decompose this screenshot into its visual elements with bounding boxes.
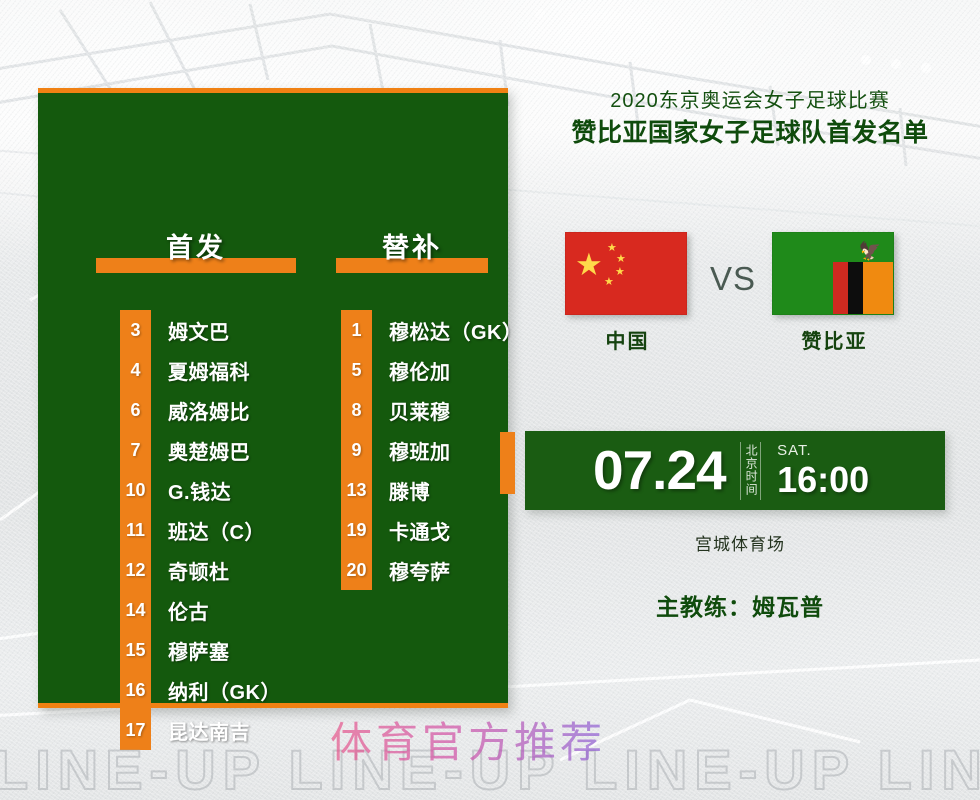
timezone-label: 北京时间 — [740, 442, 761, 500]
player-row: 6威洛姆比 — [120, 390, 281, 430]
starters-header-label: 首发 — [96, 226, 296, 265]
flag-stripe-black — [848, 262, 863, 314]
substitutes-rows: 1穆松达（GK）5穆伦加8贝莱穆9穆班加13滕博19卡通戈20穆夸萨 — [341, 310, 523, 590]
date-panel-accent-bar — [500, 432, 515, 494]
away-team-block: 🦅 赞比亚 — [772, 232, 897, 354]
player-row: 1穆松达（GK） — [341, 310, 523, 350]
player-number: 8 — [341, 400, 372, 421]
player-number: 11 — [120, 520, 151, 541]
player-row: 3姆文巴 — [120, 310, 281, 350]
player-name: 姆文巴 — [168, 316, 230, 345]
flag-eagle-icon: 🦅 — [859, 242, 881, 260]
player-row: 11班达（C） — [120, 510, 281, 550]
date-time-panel: 07.24 北京时间 SAT. 16:00 — [525, 431, 945, 510]
player-number: 13 — [341, 480, 372, 501]
substitutes-column-header: 替补 — [336, 221, 488, 273]
player-number: 19 — [341, 520, 372, 541]
versus-label: VS — [693, 260, 773, 298]
flag-star-4: ★ — [604, 277, 614, 288]
player-name: 夏姆福科 — [168, 356, 250, 385]
player-number: 7 — [120, 440, 151, 461]
lineup-panel: 首发 替补 3姆文巴4夏姆福科6威洛姆比7奥楚姆巴10G.钱达11班达（C）12… — [38, 88, 508, 708]
flag-stripe-orange — [863, 262, 878, 314]
player-number: 4 — [120, 360, 151, 381]
flag-star-2: ★ — [616, 254, 626, 265]
player-row: 19卡通戈 — [341, 510, 523, 550]
flag-star-3: ★ — [615, 267, 625, 278]
player-name: 穆松达（GK） — [389, 316, 523, 345]
player-name: G.钱达 — [168, 476, 231, 505]
player-name: 穆班加 — [389, 436, 451, 465]
player-row: 8贝莱穆 — [341, 390, 523, 430]
player-name: 奥楚姆巴 — [168, 436, 250, 465]
player-name: 班达（C） — [168, 516, 265, 545]
starters-list: 3姆文巴4夏姆福科6威洛姆比7奥楚姆巴10G.钱达11班达（C）12奇顿杜14伦… — [120, 310, 281, 750]
player-name: 纳利（GK） — [168, 676, 281, 705]
player-number: 5 — [341, 360, 372, 381]
player-row: 7奥楚姆巴 — [120, 430, 281, 470]
flag-star-large: ★ — [575, 249, 603, 280]
player-number: 9 — [341, 440, 372, 461]
china-flag-icon: ★ ★ ★ ★ ★ — [565, 232, 687, 315]
kickoff-time: 16:00 — [777, 461, 869, 499]
home-team-name: 中国 — [565, 325, 690, 354]
player-number: 1 — [341, 320, 372, 341]
match-date: 07.24 — [593, 443, 726, 498]
player-number: 14 — [120, 600, 151, 621]
player-name: 穆萨塞 — [168, 636, 230, 665]
player-number: 10 — [120, 480, 151, 501]
player-number: 20 — [341, 560, 372, 581]
substitutes-header-label: 替补 — [336, 226, 488, 265]
zambia-flag-icon: 🦅 — [772, 232, 894, 315]
player-name: 伦古 — [168, 596, 209, 625]
player-row: 12奇顿杜 — [120, 550, 281, 590]
player-number: 3 — [120, 320, 151, 341]
match-teams: ★ ★ ★ ★ ★ 中国 VS 🦅 赞比亚 — [530, 232, 970, 367]
substitutes-list: 1穆松达（GK）5穆伦加8贝莱穆9穆班加13滕博19卡通戈20穆夸萨 — [341, 310, 523, 590]
player-number: 16 — [120, 680, 151, 701]
player-row: 16纳利（GK） — [120, 670, 281, 710]
day-of-week: SAT. — [777, 443, 869, 458]
player-row: 20穆夸萨 — [341, 550, 523, 590]
player-name: 卡通戈 — [389, 516, 451, 545]
event-subtitle: 2020东京奥运会女子足球比赛 — [530, 88, 970, 115]
player-number: 15 — [120, 640, 151, 661]
player-name: 穆夸萨 — [389, 556, 451, 585]
player-row: 10G.钱达 — [120, 470, 281, 510]
flag-stripe-red — [833, 262, 848, 314]
title-block: 2020东京奥运会女子足球比赛 赞比亚国家女子足球队首发名单 — [530, 88, 970, 150]
starters-column-header: 首发 — [96, 221, 296, 273]
kickoff-block: SAT. 16:00 — [777, 443, 869, 499]
player-row: 4夏姆福科 — [120, 350, 281, 390]
player-row: 5穆伦加 — [341, 350, 523, 390]
page-title: 赞比亚国家女子足球队首发名单 — [530, 117, 970, 150]
player-name: 奇顿杜 — [168, 556, 230, 585]
home-team-block: ★ ★ ★ ★ ★ 中国 — [565, 232, 690, 354]
player-row: 13滕博 — [341, 470, 523, 510]
player-row: 15穆萨塞 — [120, 630, 281, 670]
player-number: 6 — [120, 400, 151, 421]
player-name: 穆伦加 — [389, 356, 451, 385]
away-team-name: 赞比亚 — [772, 325, 897, 354]
player-name: 贝莱穆 — [389, 396, 451, 425]
player-name: 滕博 — [389, 476, 430, 505]
player-row: 14伦古 — [120, 590, 281, 630]
coach-label: 主教练：姆瓦普 — [530, 588, 950, 622]
player-row: 9穆班加 — [341, 430, 523, 470]
player-number: 12 — [120, 560, 151, 581]
flag-stripe-orange-2 — [878, 262, 893, 314]
starters-rows: 3姆文巴4夏姆福科6威洛姆比7奥楚姆巴10G.钱达11班达（C）12奇顿杜14伦… — [120, 310, 281, 750]
venue-label: 宫城体育场 — [530, 530, 950, 555]
brand-watermark: 体育官方推荐 — [330, 709, 606, 770]
player-name: 威洛姆比 — [168, 396, 250, 425]
